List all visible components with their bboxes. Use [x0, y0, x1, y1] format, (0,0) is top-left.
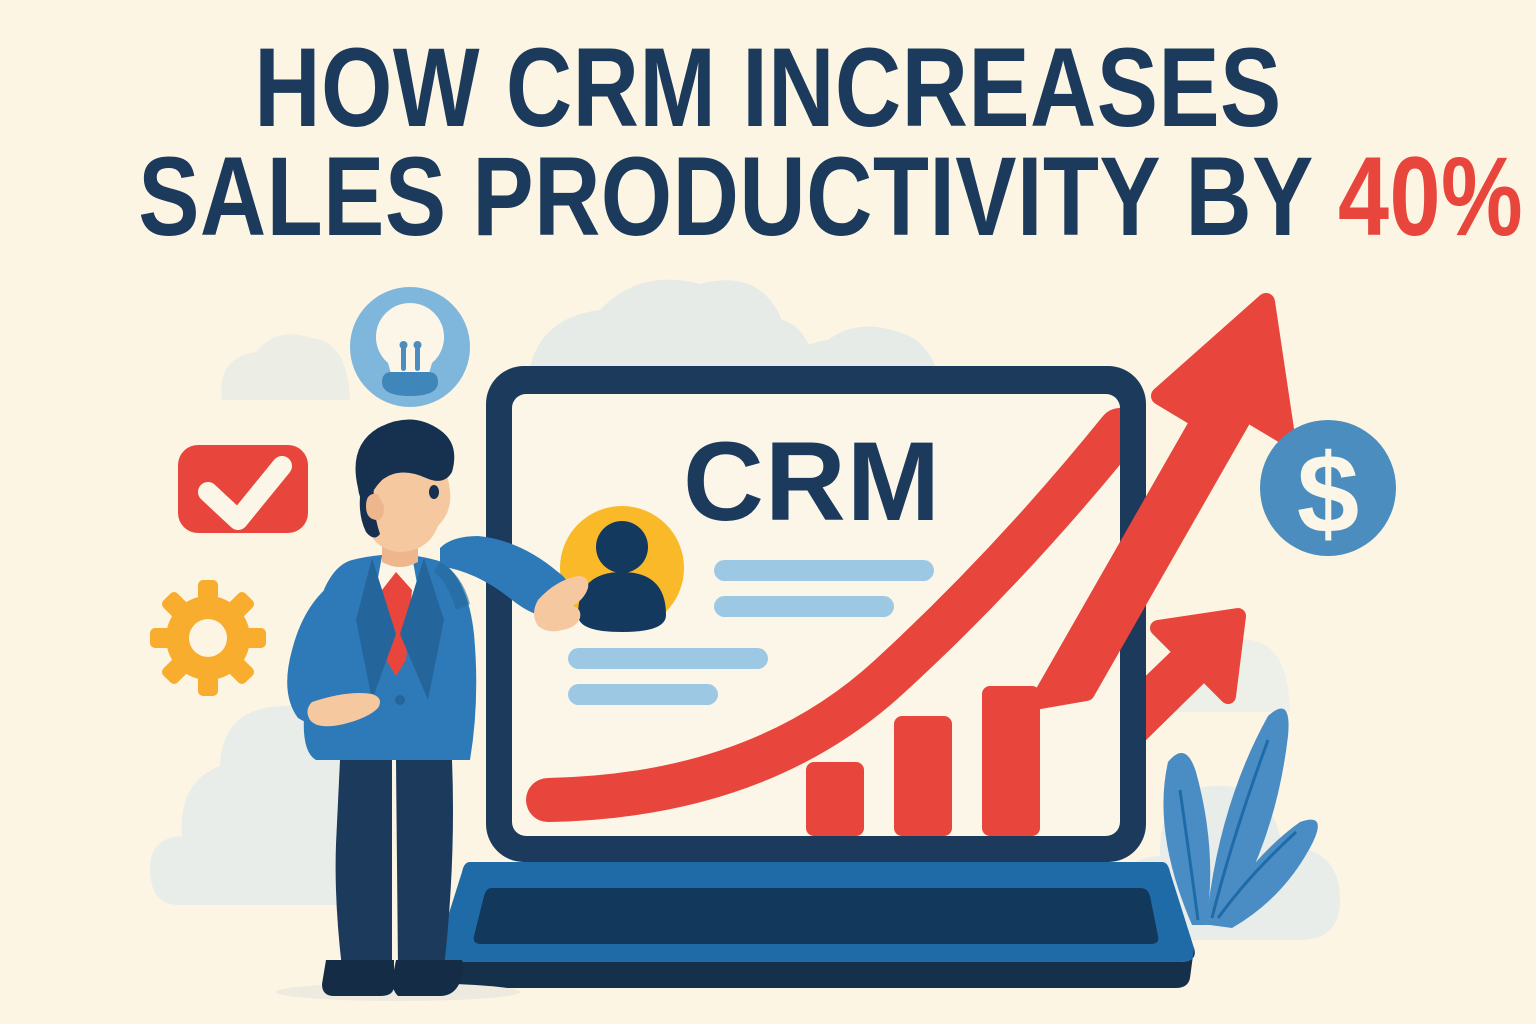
dollar-coin-icon: $	[1260, 420, 1396, 556]
headline-line-1: HOW CRM INCREASES	[138, 34, 1398, 143]
headline-line-2-text: SALES PRODUCTIVITY BY	[138, 134, 1338, 259]
placeholder-line-4	[568, 684, 718, 705]
placeholder-line-1	[714, 560, 934, 581]
placeholder-line-3	[568, 648, 768, 669]
bar-1	[806, 762, 864, 836]
laptop-trackpad-shape	[698, 912, 928, 944]
illustration-canvas: CRM	[0, 0, 1536, 1024]
shoe-left	[322, 960, 394, 996]
jacket-button	[395, 695, 405, 705]
headline: HOW CRM INCREASES SALES PRODUCTIVITY BY …	[0, 34, 1536, 251]
headline-line-2: SALES PRODUCTIVITY BY 40%	[138, 143, 1398, 252]
placeholder-line-2	[714, 596, 894, 617]
screen-title: CRM	[683, 419, 941, 544]
bar-2	[894, 716, 952, 836]
gear-icon	[150, 580, 266, 696]
leg-right	[396, 760, 453, 968]
lightbulb-icon	[350, 287, 470, 407]
bulb-base	[382, 372, 438, 396]
shoe-right	[392, 960, 463, 996]
bar-3	[982, 686, 1040, 836]
check-icon	[178, 445, 308, 533]
headline-highlight: 40%	[1338, 134, 1523, 259]
eye	[429, 485, 439, 499]
dollar-symbol: $	[1297, 431, 1359, 556]
leg-left	[336, 760, 392, 968]
